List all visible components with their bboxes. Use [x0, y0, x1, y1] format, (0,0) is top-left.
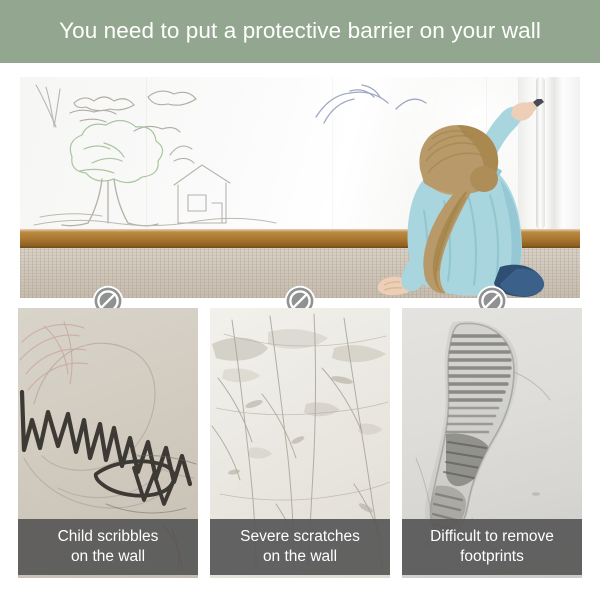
panel-caption-3: Difficult to remove footprints — [402, 519, 582, 575]
header-banner: You need to put a protective barrier on … — [0, 0, 600, 63]
wall-seam — [332, 77, 333, 229]
wall-seam — [146, 77, 147, 229]
hero-image — [20, 77, 580, 298]
child-figure — [350, 99, 550, 298]
caption-line-2: footprints — [430, 547, 554, 567]
caption-line-2: on the wall — [240, 547, 360, 567]
panel-footprints: Difficult to remove footprints — [402, 308, 582, 578]
caption-line-1: Severe scratches — [240, 527, 360, 547]
caption-line-1: Child scribbles — [58, 527, 159, 547]
panel-child-scribbles: Child scribbles on the wall — [18, 308, 198, 578]
product-infographic: You need to put a protective barrier on … — [0, 0, 600, 600]
caption-line-2: on the wall — [58, 547, 159, 567]
panel-caption-2: Severe scratches on the wall — [210, 519, 390, 575]
caption-line-1: Difficult to remove — [430, 527, 554, 547]
panel-severe-scratches: Severe scratches on the wall — [210, 308, 390, 578]
page-title: You need to put a protective barrier on … — [59, 20, 541, 43]
panel-caption-1: Child scribbles on the wall — [18, 519, 198, 575]
